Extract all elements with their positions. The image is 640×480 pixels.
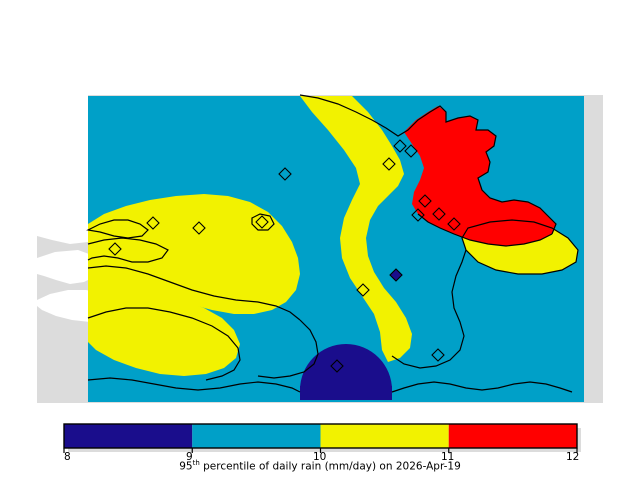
map-svg (0, 0, 640, 412)
colorbar-band (321, 424, 449, 448)
colorbar-caption: 95th percentile of daily rain (mm/day) o… (0, 459, 640, 473)
caption-superscript: th (193, 459, 200, 467)
colorbar-band (64, 424, 192, 448)
caption-suffix: percentile of daily rain (mm/day) on 202… (200, 461, 461, 473)
colorbar-band (449, 424, 577, 448)
colorbar-bands (64, 424, 577, 448)
caption-prefix: 95 (179, 461, 192, 473)
colorbar-band (192, 424, 320, 448)
rain-contour-map[interactable] (0, 0, 640, 412)
screenshot-root: VictoriaWeather.ca -- Summer Total Daily… (0, 0, 640, 480)
